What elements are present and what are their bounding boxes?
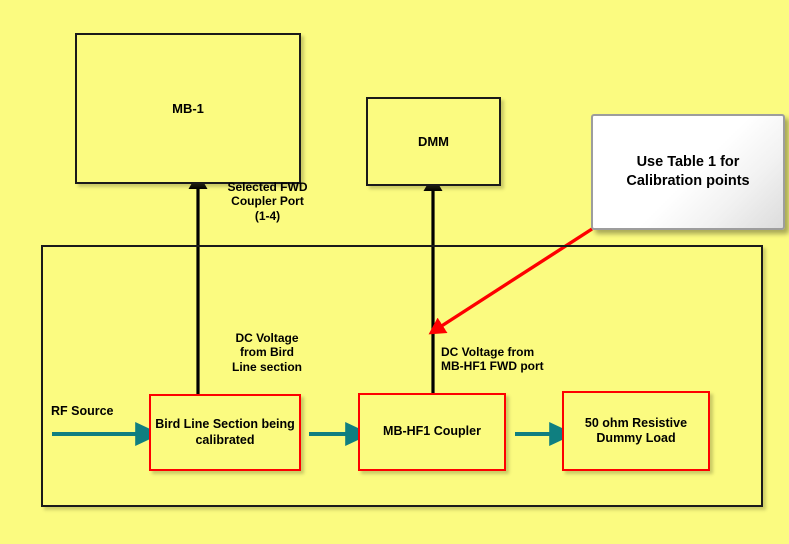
chain-box-dummy-load[interactable]: 50 ohm Resistive Dummy Load	[562, 391, 710, 471]
diagram-canvas: MB-1 DMM Use Table 1 for Calibration poi…	[0, 0, 789, 544]
label-rf-source: RF Source	[51, 404, 114, 419]
callout-use-table-1[interactable]: Use Table 1 for Calibration points	[591, 114, 785, 230]
chain-label-mb-hf1-coupler: MB-HF1 Coupler	[383, 424, 481, 439]
instrument-box-mb-1[interactable]: MB-1	[75, 33, 301, 184]
instrument-label-dmm: DMM	[418, 134, 449, 150]
chain-box-mb-hf1-coupler[interactable]: MB-HF1 Coupler	[358, 393, 506, 471]
instrument-label-mb-1: MB-1	[172, 101, 204, 117]
callout-line-1: Use Table 1 for	[626, 153, 749, 172]
callout-text: Use Table 1 for Calibration points	[626, 153, 749, 191]
label-selected-fwd-coupler-port: Selected FWD Coupler Port (1-4)	[205, 180, 330, 223]
instrument-box-dmm[interactable]: DMM	[366, 97, 501, 186]
chain-box-bird-line-section[interactable]: Bird Line Section being calibrated	[149, 394, 301, 471]
chain-label-bird-line-section: Bird Line Section being calibrated	[151, 417, 299, 448]
chain-label-dummy-load: 50 ohm Resistive Dummy Load	[564, 416, 708, 447]
label-dc-voltage-from-bird-line: DC Voltage from Bird Line section	[207, 331, 327, 374]
label-dc-voltage-from-mb-hf1: DC Voltage from MB-HF1 FWD port	[441, 345, 601, 374]
callout-line-2: Calibration points	[626, 172, 749, 191]
